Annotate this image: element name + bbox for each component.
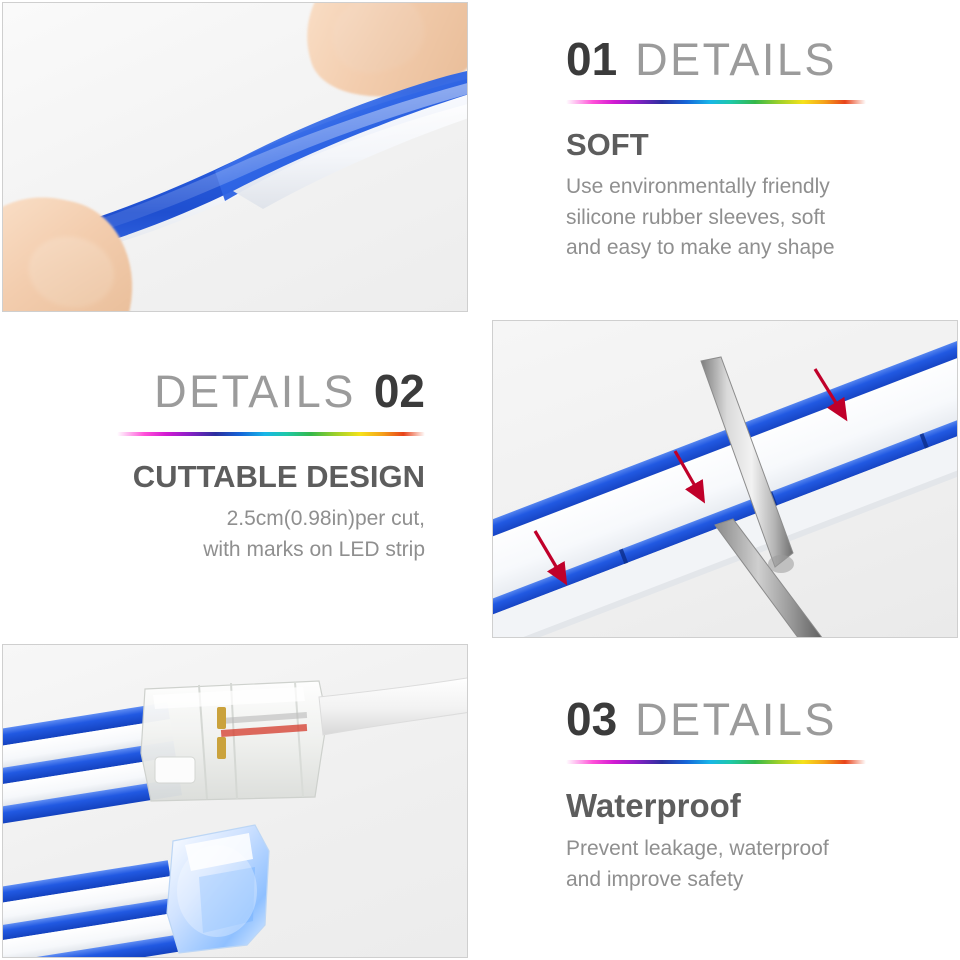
photo-waterproof-connector	[3, 645, 467, 957]
body-line: silicone rubber sleeves, soft	[566, 203, 906, 233]
waterproof-end-cap	[167, 825, 269, 953]
waterproof-connector-housing	[141, 681, 327, 801]
section-label: DETAILS	[635, 697, 837, 742]
rainbow-divider	[566, 100, 866, 104]
power-cable	[319, 677, 467, 735]
body-line: with marks on LED strip	[65, 535, 425, 565]
text-block-cuttable: DETAILS 02 CUTTABLE DESIGN 2.5cm(0.98in)…	[65, 368, 425, 565]
section-label: DETAILS	[154, 369, 356, 414]
section-label: DETAILS	[635, 37, 837, 82]
body-line: Prevent leakage, waterproof	[566, 834, 926, 864]
section-number: 02	[374, 368, 425, 414]
fingernail-bottom	[22, 229, 121, 311]
kicker-soft: 01 DETAILS	[566, 36, 906, 82]
body-line: and improve safety	[566, 865, 926, 895]
photo-panel-cuttable	[492, 320, 958, 638]
section-headline: SOFT	[566, 128, 906, 162]
section-body: 2.5cm(0.98in)per cut, with marks on LED …	[65, 504, 425, 565]
infographic-sheet: 01 DETAILS SOFT Use environmentally frie…	[0, 0, 960, 960]
kicker-cuttable: DETAILS 02	[65, 368, 425, 414]
body-line: and easy to make any shape	[566, 233, 906, 263]
rainbow-divider	[566, 760, 866, 764]
text-block-waterproof: 03 DETAILS Waterproof Prevent leakage, w…	[566, 696, 926, 895]
kicker-waterproof: 03 DETAILS	[566, 696, 926, 742]
text-block-soft: 01 DETAILS SOFT Use environmentally frie…	[566, 36, 906, 263]
connector-scene	[3, 645, 467, 957]
photo-scissors-cutting-strip	[493, 321, 957, 637]
photo-panel-soft	[2, 2, 468, 312]
photo-panel-waterproof	[2, 644, 468, 958]
section-body: Prevent leakage, waterproof and improve …	[566, 834, 926, 895]
section-body: Use environmentally friendly silicone ru…	[566, 172, 906, 263]
body-line: Use environmentally friendly	[566, 172, 906, 202]
rainbow-divider	[117, 432, 425, 436]
body-line: 2.5cm(0.98in)per cut,	[65, 504, 425, 534]
section-headline: CUTTABLE DESIGN	[65, 460, 425, 494]
section-headline: Waterproof	[566, 788, 926, 824]
cut-scene	[493, 321, 957, 637]
section-number: 01	[566, 36, 617, 82]
section-number: 03	[566, 696, 617, 742]
photo-soft-twisted-strip	[3, 3, 467, 311]
